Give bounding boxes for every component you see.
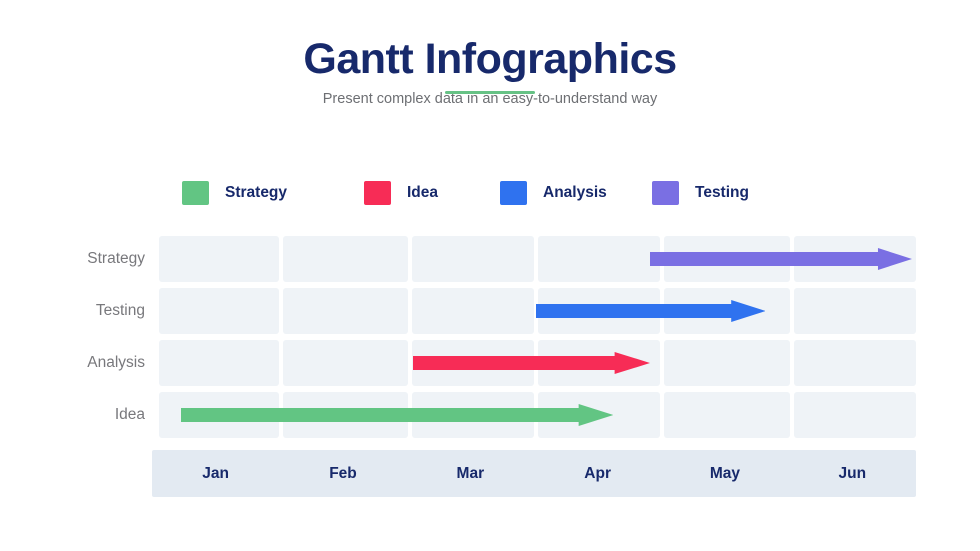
month-label-mar: Mar — [407, 450, 534, 497]
arrow-shape-purple — [650, 248, 912, 270]
row-label-analysis: Analysis — [0, 353, 145, 373]
grid-cell — [159, 236, 279, 282]
gantt-bar-strategy-row[interactable] — [650, 248, 912, 270]
gantt-bar-idea-row[interactable] — [181, 404, 613, 426]
legend-swatch-strategy — [182, 181, 209, 205]
month-label-jun: Jun — [789, 450, 916, 497]
grid-cell — [794, 288, 916, 334]
slide-canvas: Gantt Infographics Present complex data … — [0, 0, 980, 551]
gantt-bar-analysis-row[interactable] — [413, 352, 650, 374]
legend-item-analysis[interactable]: Analysis — [500, 180, 607, 206]
grid-cell — [159, 288, 279, 334]
arrow-shape-blue — [536, 300, 766, 322]
month-label-may: May — [661, 450, 788, 497]
month-axis: Jan Feb Mar Apr May Jun — [152, 450, 916, 497]
legend-label-strategy: Strategy — [225, 184, 287, 202]
grid-cell — [794, 392, 916, 438]
grid-cell — [159, 340, 279, 386]
grid-cell — [412, 288, 534, 334]
arrow-shape-red — [413, 352, 650, 374]
month-label-apr: Apr — [534, 450, 661, 497]
legend-label-analysis: Analysis — [543, 184, 607, 202]
grid-cell — [412, 236, 534, 282]
header: Gantt Infographics Present complex data … — [0, 36, 980, 107]
legend-item-strategy[interactable]: Strategy — [182, 180, 287, 206]
grid-cell — [794, 340, 916, 386]
month-label-jan: Jan — [152, 450, 279, 497]
chart-legend: Strategy Idea Analysis Testing — [182, 180, 802, 208]
legend-swatch-testing — [652, 181, 679, 205]
legend-label-testing: Testing — [695, 184, 749, 202]
grid-cell — [664, 340, 790, 386]
legend-label-idea: Idea — [407, 184, 438, 202]
legend-item-testing[interactable]: Testing — [652, 180, 749, 206]
gantt-bar-testing-row[interactable] — [536, 300, 766, 322]
gantt-row-labels: Strategy Testing Analysis Idea — [0, 236, 145, 444]
legend-item-idea[interactable]: Idea — [364, 180, 438, 206]
row-label-strategy: Strategy — [0, 249, 145, 269]
accent-divider — [445, 91, 535, 94]
grid-cell — [283, 288, 408, 334]
arrow-shape-green — [181, 404, 613, 426]
grid-cell — [283, 236, 408, 282]
month-label-feb: Feb — [279, 450, 406, 497]
grid-cell — [664, 392, 790, 438]
grid-cell — [538, 236, 660, 282]
page-title: Gantt Infographics — [0, 36, 980, 82]
row-label-testing: Testing — [0, 301, 145, 321]
legend-swatch-analysis — [500, 181, 527, 205]
grid-cell — [283, 340, 408, 386]
row-label-idea: Idea — [0, 405, 145, 425]
legend-swatch-idea — [364, 181, 391, 205]
